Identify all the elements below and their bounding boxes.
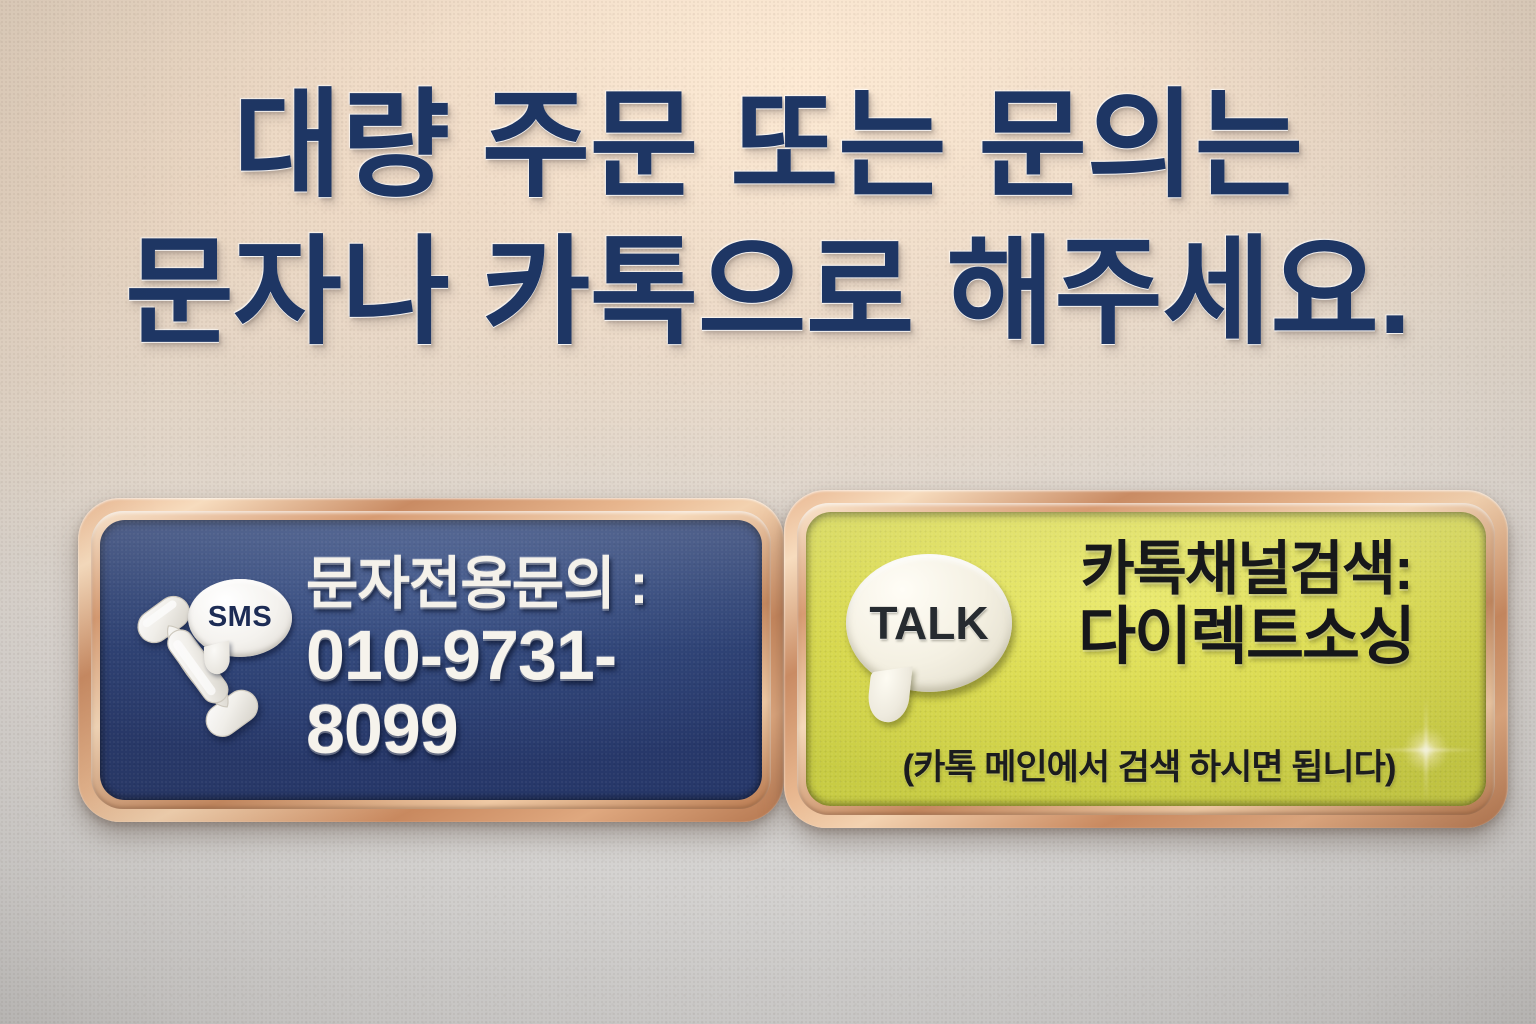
sms-text-block: 문자전용문의 : 010-9731-8099 (298, 554, 762, 766)
sms-label: 문자전용문의 : (306, 554, 762, 616)
sms-badge: SMS (188, 579, 292, 657)
talk-plaque-face: TALK 카톡채널검색: 다이렉트소싱 (카톡 메인에서 검색 하시면 됩니다) (806, 512, 1486, 806)
sms-phone-number[interactable]: 010-9731-8099 (306, 618, 762, 766)
poster-canvas: 대량 주문 또는 문의는 문자나 카톡으로 해주세요. (0, 0, 1536, 1024)
sms-contact-plaque[interactable]: SMS 문자전용문의 : 010-9731-8099 (78, 498, 784, 822)
kakaotalk-speech-bubble-icon: TALK (846, 554, 1012, 692)
talk-text-block: 카톡채널검색: 다이렉트소싱 (1024, 536, 1468, 674)
talk-plaque-bezel: TALK 카톡채널검색: 다이렉트소싱 (카톡 메인에서 검색 하시면 됩니다) (797, 503, 1495, 815)
sms-badge-label: SMS (208, 601, 272, 634)
talk-search-label: 카톡채널검색: (1024, 536, 1468, 602)
sms-plaque-face: SMS 문자전용문의 : 010-9731-8099 (100, 520, 762, 800)
phone-sms-icon-group: SMS (118, 565, 294, 755)
talk-badge-tail (865, 666, 912, 725)
talk-badge-label: TALK (869, 596, 988, 650)
sms-plaque-bezel: SMS 문자전용문의 : 010-9731-8099 (91, 511, 771, 809)
talk-channel-name[interactable]: 다이렉트소싱 (1024, 602, 1468, 674)
talk-help-note: (카톡 메인에서 검색 하시면 됩니다) (824, 739, 1474, 790)
kakaotalk-contact-plaque[interactable]: TALK 카톡채널검색: 다이렉트소싱 (카톡 메인에서 검색 하시면 됩니다) (784, 490, 1508, 828)
contact-plaque-group: SMS 문자전용문의 : 010-9731-8099 (0, 0, 1536, 1024)
